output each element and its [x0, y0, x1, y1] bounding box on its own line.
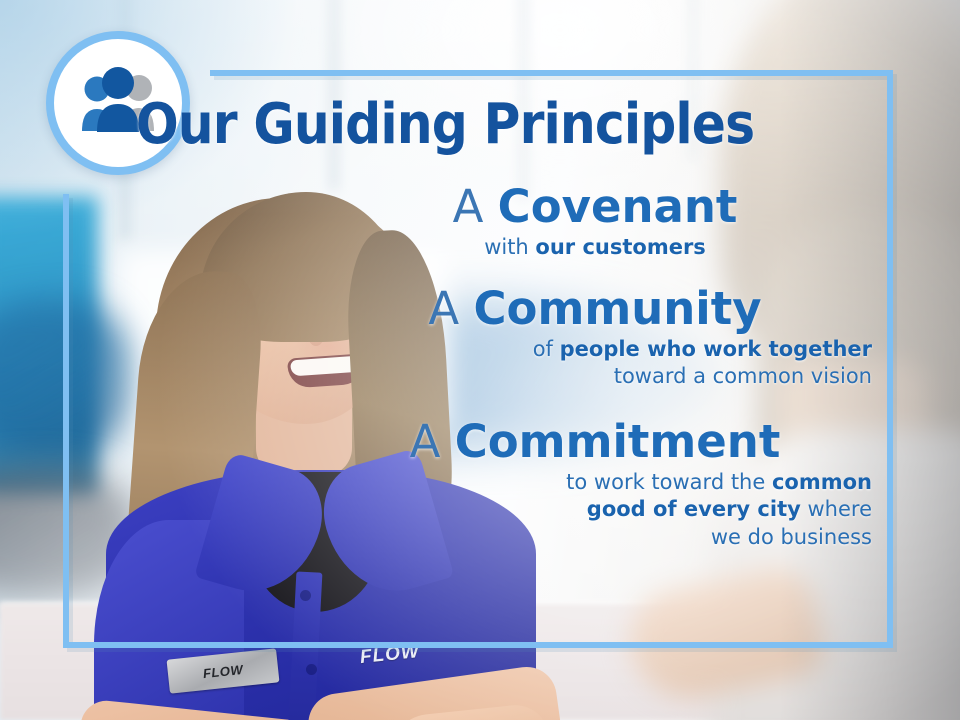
subtext-line2-bold: good of every city: [587, 497, 801, 521]
subtext-pre: with: [484, 235, 535, 259]
principle-subtext: of people who work together toward a com…: [300, 336, 890, 391]
principle-keyword: Commitment: [455, 415, 781, 468]
principle-keyword: Covenant: [498, 180, 738, 233]
subtext-line2: toward a common vision: [614, 364, 872, 388]
principle-article: A: [453, 180, 498, 233]
principle-subtext: to work toward the common good of every …: [300, 469, 890, 551]
page-title: Our Guiding Principles: [45, 92, 846, 157]
principle-title: A Covenant: [300, 182, 890, 232]
principle-article: A: [410, 415, 455, 468]
subtext-bold: common: [772, 470, 872, 494]
principle-keyword: Community: [474, 282, 762, 335]
principle-community: A Community of people who work together …: [300, 284, 890, 391]
subtext-bold: our customers: [535, 235, 705, 259]
poster-canvas: FLOW FLOW: [0, 0, 960, 720]
principle-covenant: A Covenant with our customers: [300, 182, 890, 262]
principles-list: A Covenant with our customers A Communit…: [300, 182, 890, 555]
principle-article: A: [428, 282, 473, 335]
subtext-pre: to work toward the: [566, 470, 772, 494]
principle-commitment: A Commitment to work toward the common g…: [300, 417, 890, 551]
principle-subtext: with our customers: [300, 234, 890, 261]
subtext-pre: of: [533, 337, 560, 361]
subtext-bold: people who work together: [560, 337, 872, 361]
subtext-line2-post: where: [801, 497, 872, 521]
principle-title: A Commitment: [300, 417, 890, 467]
subtext-line3: we do business: [711, 525, 872, 549]
principle-title: A Community: [300, 284, 890, 334]
